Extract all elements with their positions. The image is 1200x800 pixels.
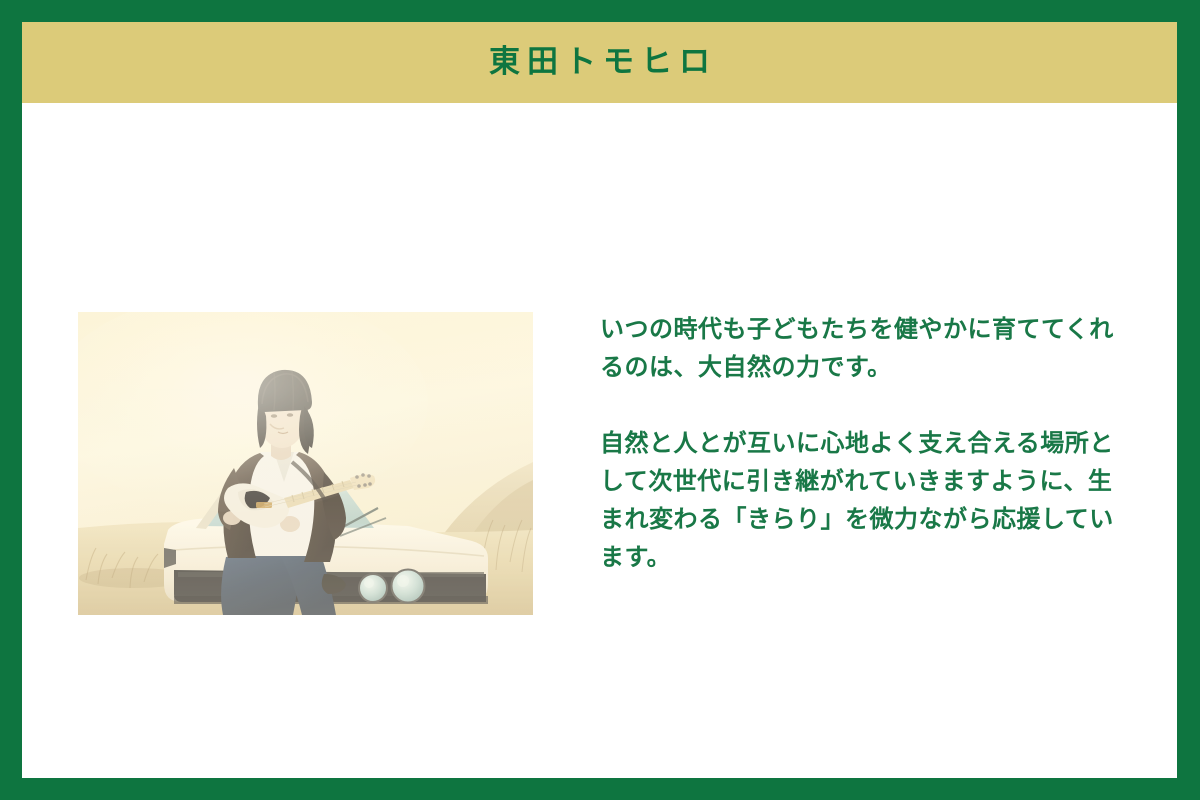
message-paragraph-1: いつの時代も子どもたちを健やかに育ててくれるのは、大自然の力です。 [600, 310, 1128, 386]
photo-illustration: VW [78, 312, 533, 615]
page-title: 東田トモヒロ [482, 47, 717, 78]
content-area: VW [22, 103, 1177, 778]
page-root: 東田トモヒロ [0, 0, 1200, 800]
musician-with-guitar-on-car-photo: VW [78, 312, 533, 615]
page-banner: 東田トモヒロ [22, 22, 1177, 103]
message-paragraph-2: 自然と人とが互いに心地よく支え合える場所として次世代に引き継がれていきますように… [600, 424, 1128, 576]
message-text-block: いつの時代も子どもたちを健やかに育ててくれるのは、大自然の力です。 自然と人とが… [600, 310, 1128, 576]
